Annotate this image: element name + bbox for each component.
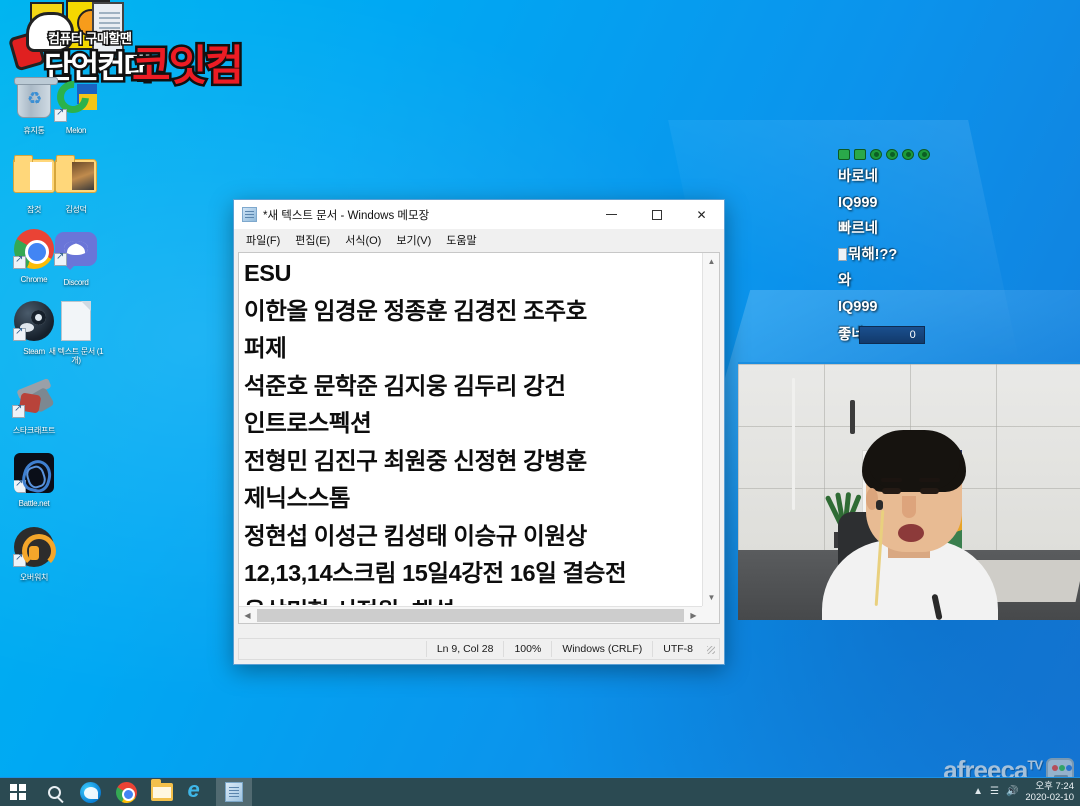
menu-edit[interactable]: 편집(E): [288, 230, 337, 250]
notepad-titlebar[interactable]: *새 텍스트 문서 - Windows 메모장 ✕: [234, 200, 724, 229]
battlenet-icon: [11, 453, 57, 497]
emoji-icon: [886, 149, 898, 160]
desktop-icon-label: Melon: [44, 126, 108, 135]
status-cursor-position: Ln 9, Col 28: [426, 641, 504, 657]
text-line: 온상민형 서정원=해설: [244, 593, 701, 606]
desktop-icon-starcraft[interactable]: 스타크래프트: [2, 378, 66, 435]
folder-icon: [53, 159, 99, 203]
volume-icon[interactable]: 🔊: [1006, 786, 1018, 797]
scroll-left-icon[interactable]: ◀: [239, 607, 256, 624]
minimize-icon: [606, 214, 617, 215]
desktop-icon-label: Discord: [44, 278, 108, 287]
text-line: 전형민 김진구 최원중 신정현 강병훈: [244, 443, 701, 481]
notepad-taskbar-button[interactable]: [216, 778, 252, 806]
desktop-icon-text-document[interactable]: 새 텍스트 문서 (1개): [44, 300, 108, 365]
search-button[interactable]: [36, 778, 72, 806]
ie-icon: [188, 782, 209, 803]
file-explorer-button[interactable]: [144, 778, 180, 806]
chat-message: IQ999: [838, 294, 1018, 320]
discord-icon: [53, 232, 99, 276]
notepad-window[interactable]: *새 텍스트 문서 - Windows 메모장 ✕ 파일(F) 편집(E) 서식…: [233, 199, 725, 665]
webcam-person-eyebrow: [881, 478, 902, 482]
desktop-icon-label: 김성덕: [44, 205, 108, 214]
maximize-icon: [652, 210, 662, 220]
desktop-icon-melon[interactable]: Melon: [44, 80, 108, 135]
chrome-button[interactable]: [108, 778, 144, 806]
webcam-wall-hook: [850, 400, 855, 434]
melon-icon: [53, 80, 99, 124]
status-line-ending: Windows (CRLF): [551, 641, 652, 657]
notepad-app-icon: [242, 207, 257, 222]
chat-message-with-badge: 뭐해!??: [838, 242, 1018, 268]
windows-logo-icon: [10, 784, 26, 800]
webcam-person-nose: [902, 496, 916, 518]
taskbar[interactable]: ▲ ☰ 🔊 오후 7:24 2020-02-10: [0, 777, 1080, 806]
vertical-scrollbar[interactable]: ▲ ▼: [702, 253, 719, 606]
emoji-icon: [918, 149, 930, 160]
status-zoom-level: 100%: [503, 641, 551, 657]
emoji-icon: [902, 149, 914, 160]
chat-message: 빠르네: [838, 216, 1018, 242]
webcam-feed: [738, 362, 1080, 620]
chevron-up-icon[interactable]: ▲: [973, 786, 983, 797]
text-line: 인트로스펙션: [244, 405, 701, 443]
desktop-icon-label: 스타크래프트: [2, 426, 66, 435]
logo-brand-text: 코잇컴: [132, 32, 242, 93]
webcam-wall-cord: [792, 378, 795, 510]
folder-icon: [151, 783, 173, 801]
status-encoding: UTF-8: [652, 641, 703, 657]
text-line: ESU: [244, 255, 701, 293]
stream-logo-banner: 컴퓨터 구매할땐 단언컨대 코잇컴: [0, 0, 262, 80]
chat-message: IQ999: [838, 190, 1018, 216]
webcam-earbud-icon: [876, 500, 883, 510]
webcam-person-eyebrow: [919, 478, 940, 482]
webcam-person-eye: [882, 488, 901, 494]
emoji-icon: [854, 149, 866, 160]
clock-date: 2020-02-10: [1025, 792, 1074, 803]
overwatch-icon: [11, 527, 57, 571]
text-line: 퍼제: [244, 330, 701, 368]
chat-counter-value: 0: [859, 326, 925, 344]
desktop-icon-label: Battle.net: [2, 499, 66, 508]
chrome-icon: [116, 782, 137, 803]
webcam-person-mouth: [898, 524, 924, 542]
chat-counter: 좋네 0: [838, 322, 925, 348]
scrollbar-corner: [702, 606, 719, 623]
chat-message-text: 뭐해!??: [848, 247, 897, 263]
taskbar-clock[interactable]: 오후 7:24 2020-02-10: [1025, 781, 1074, 803]
desktop-icon-label: 오버워치: [2, 573, 66, 582]
window-controls[interactable]: ✕: [589, 200, 724, 229]
scroll-right-icon[interactable]: ▶: [685, 607, 702, 624]
chat-badge-icon: [838, 248, 847, 261]
menu-view[interactable]: 보기(V): [389, 230, 438, 250]
text-line: 12,13,14스크림 15일4강전 16일 결승전: [244, 555, 701, 593]
notepad-text-content[interactable]: ESU 이한올 임경운 정종훈 김경진 조주호 퍼제 석준호 문학준 김지웅 김…: [244, 255, 701, 605]
horizontal-scroll-thumb[interactable]: [257, 609, 684, 622]
chat-message: 와: [838, 268, 1018, 294]
emoji-icon: [870, 149, 882, 160]
menu-help[interactable]: 도움말: [439, 230, 483, 250]
webcam-person-hair: [862, 430, 966, 492]
desktop-icon-battlenet[interactable]: Battle.net: [2, 452, 66, 508]
horizontal-scrollbar[interactable]: ◀ ▶: [239, 606, 702, 623]
search-icon: [48, 786, 61, 799]
close-button[interactable]: ✕: [679, 200, 724, 229]
emoji-icon: [838, 149, 850, 160]
chat-message: 바로네: [838, 164, 1018, 190]
notepad-title: *새 텍스트 문서 - Windows 메모장: [263, 207, 429, 223]
edge-icon: [80, 782, 101, 803]
webcam-person-eye: [920, 488, 939, 494]
text-line: 제닉스스톰: [244, 480, 701, 518]
menu-format[interactable]: 서식(O): [338, 230, 388, 250]
afreeca-brand-sup: TV: [1027, 757, 1042, 772]
chat-overlay: 바로네 IQ999 빠르네 뭐해!?? 와 IQ999 좋네 0: [838, 148, 1018, 348]
text-line: 석준호 문학준 김지웅 김두리 강건: [244, 368, 701, 406]
starcraft-icon: [11, 380, 57, 424]
notepad-menubar[interactable]: 파일(F) 편집(E) 서식(O) 보기(V) 도움말: [234, 229, 724, 250]
edge-button[interactable]: [72, 778, 108, 806]
text-document-icon: [53, 301, 99, 345]
desktop-icon-label: 새 텍스트 문서 (1개): [44, 347, 108, 365]
scroll-up-icon[interactable]: ▲: [703, 253, 720, 270]
network-icon[interactable]: ☰: [990, 786, 999, 797]
desktop-icon-overwatch[interactable]: 오버워치: [2, 526, 66, 582]
start-button[interactable]: [0, 778, 36, 806]
desktop-icon-folder-kimseongdeok[interactable]: 김성덕: [44, 155, 108, 214]
minimize-button[interactable]: [589, 200, 634, 229]
menu-file[interactable]: 파일(F): [239, 230, 287, 250]
text-line: 이한올 임경운 정종훈 김경진 조주호: [244, 293, 701, 331]
notepad-text-area[interactable]: ESU 이한올 임경운 정종훈 김경진 조주호 퍼제 석준호 문학준 김지웅 김…: [238, 252, 720, 624]
notepad-icon: [225, 782, 243, 802]
scroll-down-icon[interactable]: ▼: [703, 589, 720, 606]
internet-explorer-button[interactable]: [180, 778, 216, 806]
clock-time: 오후 7:24: [1025, 781, 1074, 792]
text-line: 정현섭 이성근 킴성태 이승규 이원상: [244, 518, 701, 556]
close-icon: ✕: [696, 208, 706, 222]
desktop-icon-discord[interactable]: Discord: [44, 228, 108, 287]
maximize-button[interactable]: [634, 200, 679, 229]
notepad-statusbar: Ln 9, Col 28 100% Windows (CRLF) UTF-8: [238, 638, 720, 660]
system-tray[interactable]: ▲ ☰ 🔊 오후 7:24 2020-02-10: [973, 777, 1074, 806]
resize-grip-icon[interactable]: [703, 642, 717, 656]
chat-emoji-row: [838, 148, 1018, 160]
